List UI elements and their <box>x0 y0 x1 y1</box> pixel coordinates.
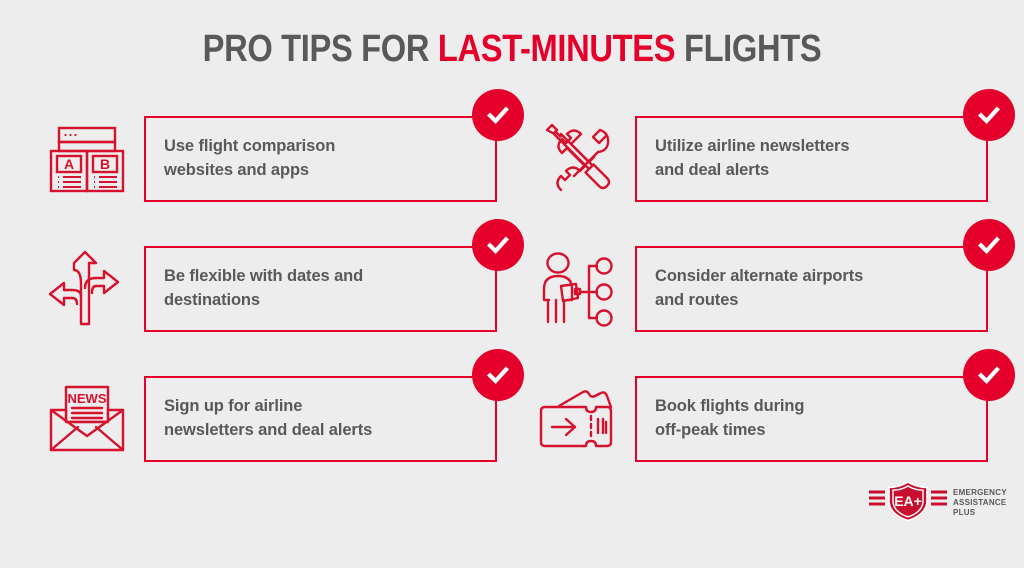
tip-item: Be flexible with dates and destinations <box>44 240 497 337</box>
page-title-part1: PRO TIPS FOR <box>203 28 438 70</box>
page-title-highlight: LAST-MINUTES <box>438 28 675 70</box>
tip-text-line1: Book flights during <box>655 397 804 415</box>
tip-text-line1: Utilize airline newsletters <box>655 137 849 155</box>
boarding-pass-icon <box>535 376 621 462</box>
check-icon <box>963 349 1015 401</box>
tips-grid: A B Use flight comparison websites and a… <box>44 110 988 467</box>
tip-item: NEWS Sign up for airline newsletters and… <box>44 370 497 467</box>
tip-text-line1: Sign up for airline <box>164 397 302 415</box>
tip-box: Consider alternate airports and routes <box>635 246 988 332</box>
logo-monogram: EA+ <box>894 493 922 509</box>
tip-text: Utilize airline newsletters and deal ale… <box>637 135 907 183</box>
tip-text: Book flights during off-peak times <box>637 395 862 443</box>
tip-text-line1: Consider alternate airports <box>655 267 863 285</box>
logo-word-line3: PLUS <box>953 508 1007 518</box>
logo-word-line1: EMERGENCY <box>953 488 1007 498</box>
tip-box: Be flexible with dates and destinations <box>144 246 497 332</box>
shield-ea-plus-icon: EA+ <box>869 480 947 527</box>
tip-item: Consider alternate airports and routes <box>535 240 988 337</box>
tip-text-line1: Be flexible with dates and <box>164 267 363 285</box>
tip-box: Sign up for airline newsletters and deal… <box>144 376 497 462</box>
tip-box: Book flights during off-peak times <box>635 376 988 462</box>
tip-text: Consider alternate airports and routes <box>637 265 921 313</box>
check-icon <box>472 349 524 401</box>
tip-text-line2: off-peak times <box>655 421 765 439</box>
three-way-arrow-icon <box>44 246 130 332</box>
check-icon <box>472 219 524 271</box>
panel-b-label: B <box>100 156 110 172</box>
tip-text-line2: newsletters and deal alerts <box>164 421 372 439</box>
panel-a-label: A <box>64 156 74 172</box>
tip-text-line2: destinations <box>164 291 260 309</box>
tip-item: Book flights during off-peak times <box>535 370 988 467</box>
tip-text-line2: and routes <box>655 291 738 309</box>
tip-text-line2: websites and apps <box>164 161 309 179</box>
page-title: PRO TIPS FOR LAST-MINUTES FLIGHTS <box>72 28 953 71</box>
check-icon <box>963 219 1015 271</box>
tip-text-line1: Use flight comparison <box>164 137 335 155</box>
check-icon <box>963 89 1015 141</box>
page-title-part2: FLIGHTS <box>675 28 821 70</box>
browser-comparison-icon: A B <box>44 116 130 202</box>
tip-text: Use flight comparison websites and apps <box>146 135 393 183</box>
tools-icon <box>535 116 621 202</box>
tip-item: A B Use flight comparison websites and a… <box>44 110 497 207</box>
tip-text-line2: and deal alerts <box>655 161 769 179</box>
check-icon <box>472 89 524 141</box>
tip-box: Utilize airline newsletters and deal ale… <box>635 116 988 202</box>
person-network-icon <box>535 246 621 332</box>
tip-box: Use flight comparison websites and apps <box>144 116 497 202</box>
news-label: NEWS <box>68 391 107 406</box>
tip-text: Be flexible with dates and destinations <box>146 265 421 313</box>
tip-item: Utilize airline newsletters and deal ale… <box>535 110 988 207</box>
logo-wordmark: EMERGENCY ASSISTANCE PLUS <box>953 488 1007 519</box>
logo-word-line2: ASSISTANCE <box>953 498 1007 508</box>
brand-logo: EA+ EMERGENCY ASSISTANCE PLUS <box>869 481 999 525</box>
news-envelope-icon: NEWS <box>44 376 130 462</box>
tip-text: Sign up for airline newsletters and deal… <box>146 395 430 443</box>
